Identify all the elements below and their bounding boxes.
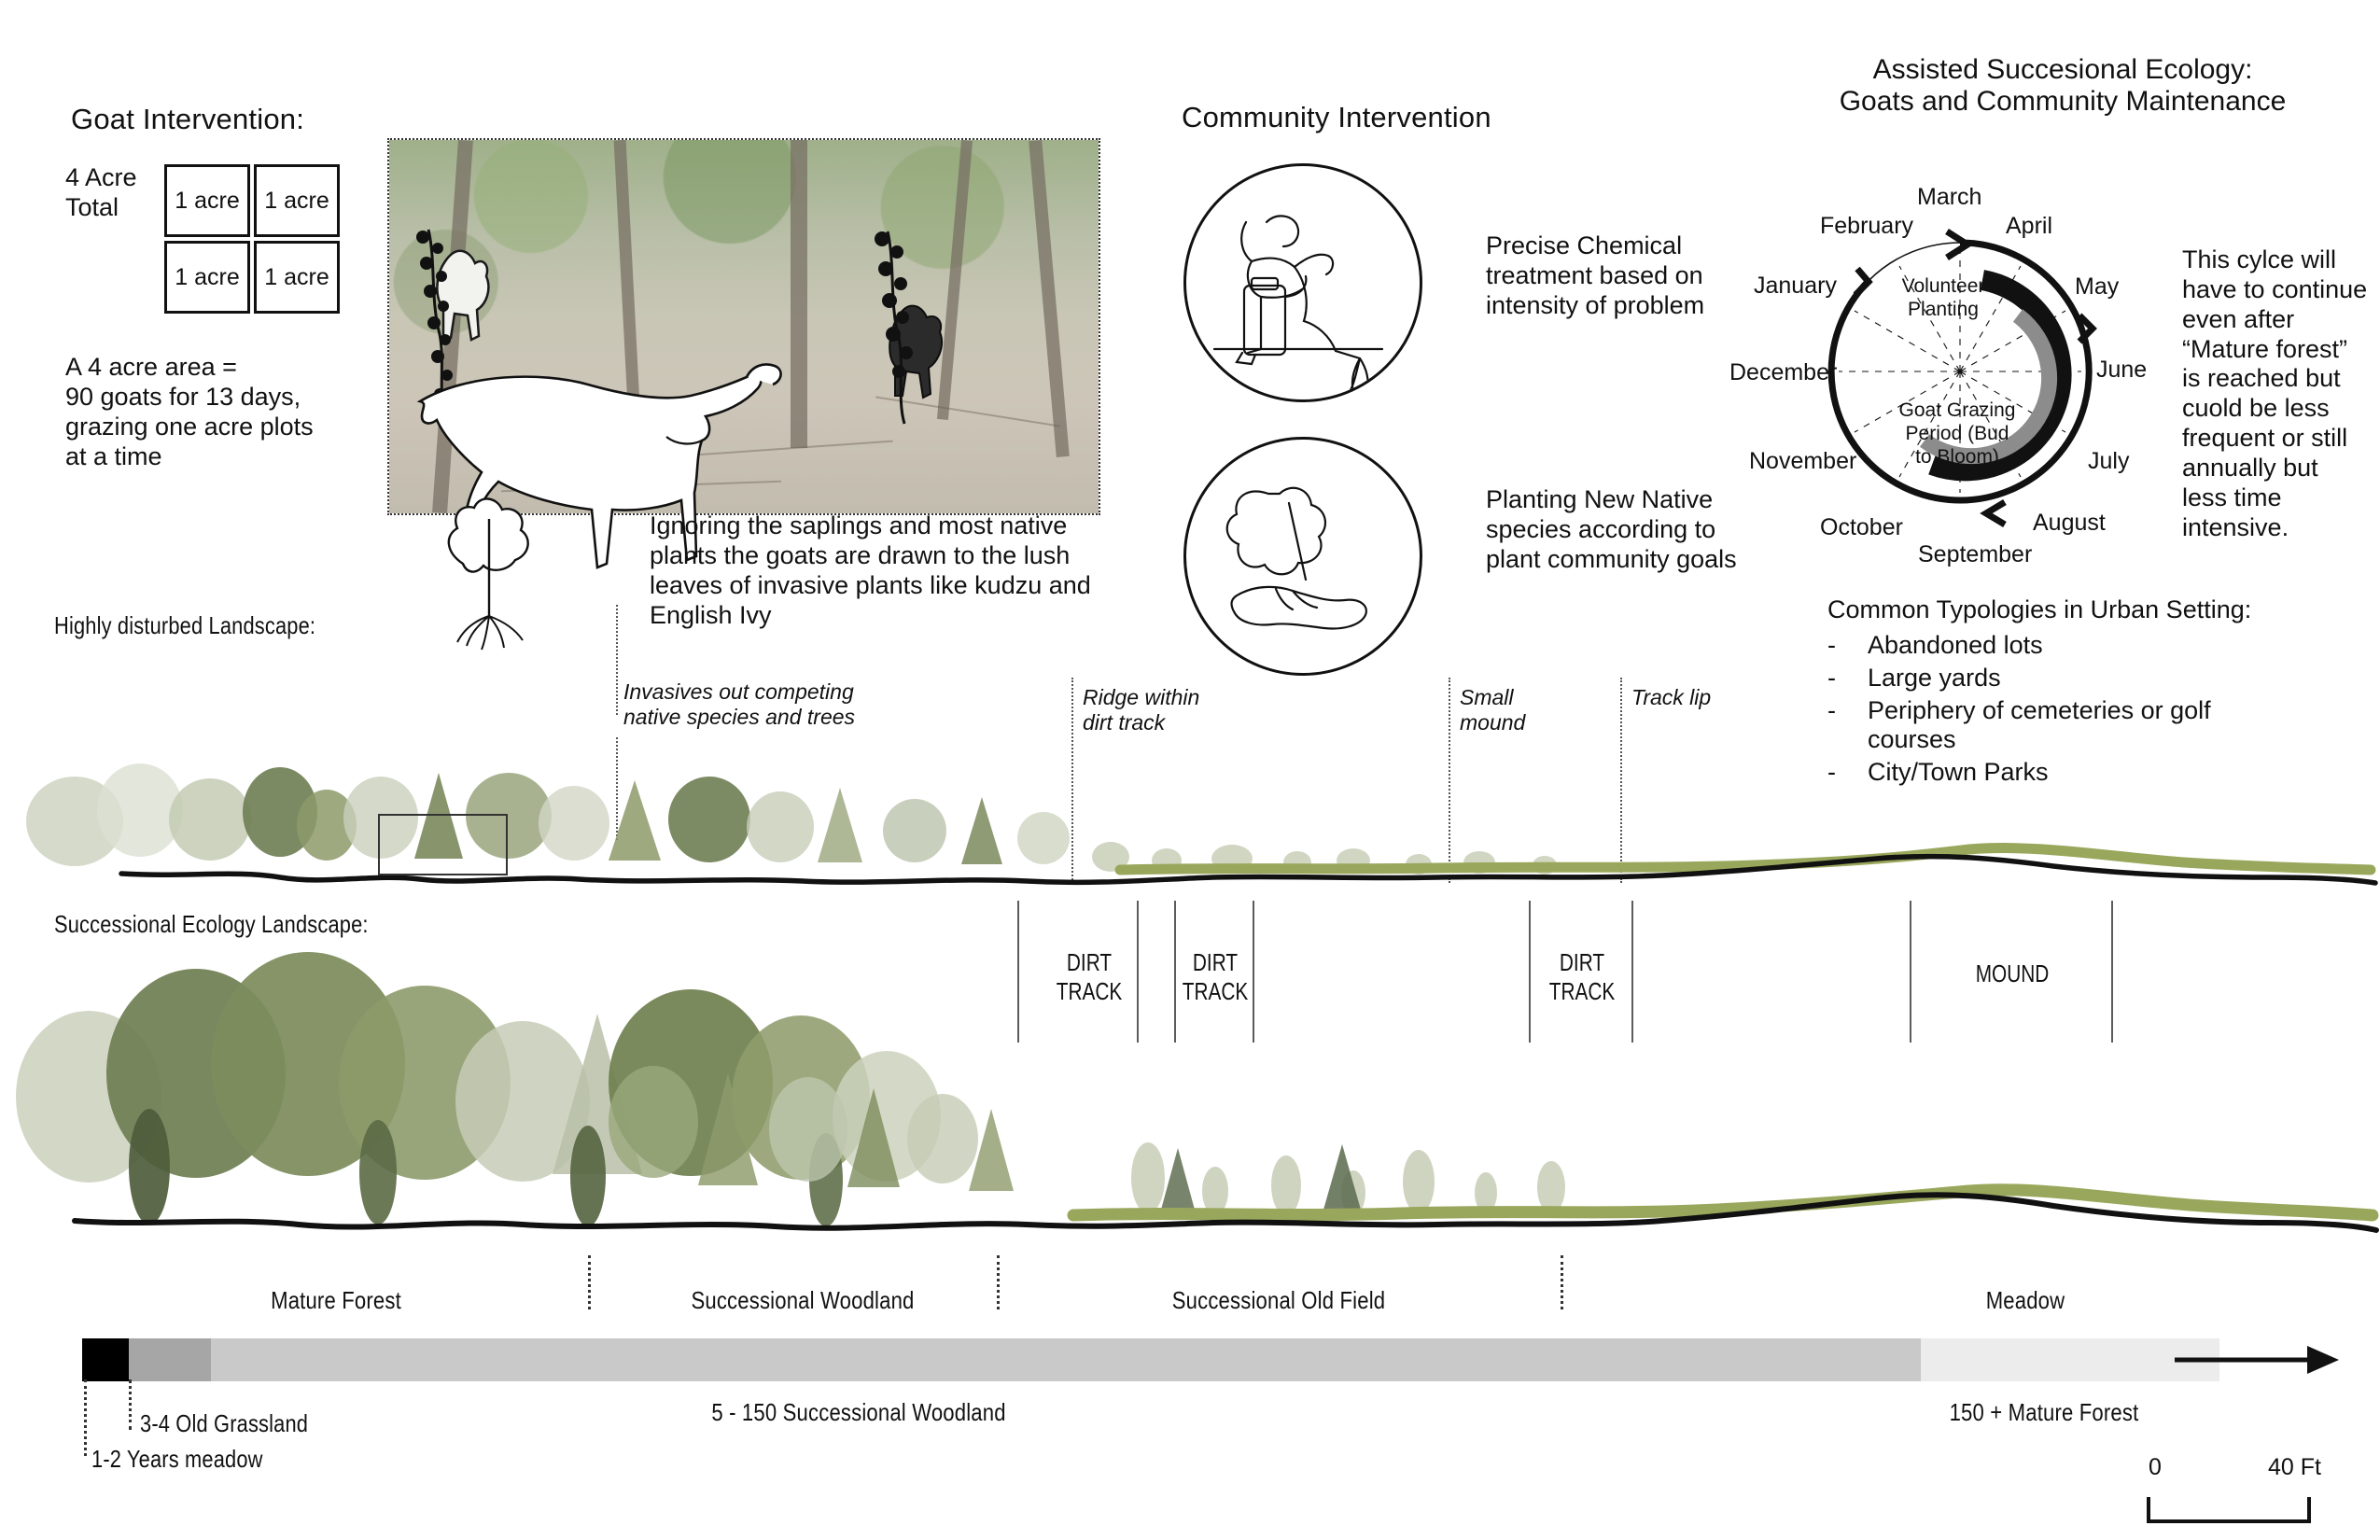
- calendar-arrow-december: [1855, 269, 1869, 295]
- typology-item: Large yards: [1868, 664, 2001, 693]
- calendar-month-april: April: [2006, 213, 2052, 240]
- zone-label-successional-woodland: Successional Woodland: [644, 1286, 961, 1315]
- zone-label-meadow: Meadow: [1867, 1286, 2184, 1315]
- leader-line: [616, 605, 618, 715]
- volunteer-planting-label: Volunteer Planting: [1887, 275, 1999, 322]
- calendar-month-june: June: [2096, 357, 2147, 384]
- successional-woodland-canopy: [609, 1066, 1014, 1191]
- list-bullet: -: [1827, 664, 1836, 693]
- goat-grazing-label: Goat Grazing Period (Bud to Bloom): [1897, 399, 2018, 469]
- timeline-callout-old-grassland: 3-4 Old Grassland: [140, 1409, 308, 1438]
- timeline-segment-old-grassland[interactable]: [129, 1338, 211, 1381]
- calendar-month-october: October: [1820, 514, 1903, 541]
- stocking-rate-note: A 4 acre area = 90 goats for 13 days, gr…: [65, 353, 314, 471]
- detail-crop-box: [378, 814, 508, 875]
- successional-ecology-label: Successional Ecology Landscape:: [54, 910, 369, 939]
- native-oak-seedling: [449, 498, 528, 650]
- calendar-month-september: September: [1918, 541, 2032, 568]
- scale-max-label: 40 Ft: [2268, 1454, 2321, 1481]
- calendar-arrow-september: [1986, 502, 2005, 525]
- section-highly-disturbed: [0, 700, 2380, 887]
- acre-plot-grid: 1 acre 1 acre 1 acre 1 acre: [164, 164, 340, 314]
- zone-label-mature-forest: Mature Forest: [177, 1286, 495, 1315]
- calendar-arrow-march: [1947, 231, 1967, 258]
- timeline-callout-leader: [84, 1379, 87, 1456]
- section-successional-ecology: [0, 952, 2380, 1260]
- calendar-month-may: May: [2075, 273, 2119, 301]
- goat-photo-caption: Ignoring the saplings and most native pl…: [650, 511, 1135, 630]
- timeline-callout-meadow: 1-2 Years meadow: [91, 1445, 263, 1474]
- old-field-conifer-accents: [1161, 1144, 1361, 1210]
- calendar-month-january: January: [1754, 273, 1837, 300]
- zone-divider: [997, 1255, 1000, 1309]
- chemical-treatment-text: Precise Chemical treatment based on inte…: [1486, 231, 1757, 321]
- goat-intervention-heading: Goat Intervention:: [71, 103, 304, 137]
- timeline-segment-meadow[interactable]: [82, 1338, 129, 1381]
- hand-with-seedling-icon: [1183, 437, 1422, 676]
- cycle-continuation-note: This cylce will have to continue even af…: [2182, 245, 2369, 543]
- scale-min-label: 0: [2149, 1454, 2162, 1481]
- typology-item: Abandoned lots: [1868, 631, 2043, 660]
- timeline-segment-successional-woodland[interactable]: [211, 1338, 1921, 1381]
- calendar-month-december: December: [1729, 359, 1837, 386]
- scale-bar: [2143, 1491, 2330, 1529]
- page-title: Assisted Succesional Ecology: Goats and …: [1755, 54, 2371, 118]
- typologies-heading: Common Typologies in Urban Setting:: [1827, 595, 2251, 624]
- spray-applicator-icon: [1183, 163, 1422, 402]
- grass-layer-bottom: [1073, 1190, 2373, 1215]
- acre-plot-4: 1 acre: [254, 241, 340, 314]
- acre-plot-2: 1 acre: [254, 164, 340, 237]
- page-title-line1: Assisted Succesional Ecology:: [1755, 54, 2371, 86]
- acre-plot-1: 1 acre: [164, 164, 250, 237]
- timeline-label-successional-woodland: 5 - 150 Successional Woodland: [573, 1398, 1144, 1427]
- calendar-month-november: November: [1749, 448, 1856, 475]
- calendar-month-march: March: [1917, 184, 1981, 211]
- highly-disturbed-label: Highly disturbed Landscape:: [54, 611, 315, 640]
- planting-native-species-text: Planting New Native species according to…: [1486, 485, 1757, 575]
- calendar-month-august: August: [2033, 510, 2106, 537]
- calendar-month-july: July: [2088, 448, 2129, 475]
- list-bullet: -: [1827, 631, 1836, 660]
- calendar-month-february: February: [1820, 213, 1913, 240]
- timeline-callout-leader: [129, 1379, 132, 1430]
- zone-label-successional-old-field: Successional Old Field: [1113, 1286, 1446, 1315]
- timeline-arrow-icon: [2175, 1338, 2361, 1381]
- zone-divider: [1561, 1255, 1563, 1309]
- four-acre-total-label: 4 Acre Total: [65, 163, 137, 223]
- acre-plot-3: 1 acre: [164, 241, 250, 314]
- community-intervention-heading: Community Intervention: [1182, 101, 1491, 134]
- timeline-label-mature-forest: 150 + Mature Forest: [1854, 1398, 2234, 1427]
- disturbed-canopy: [26, 763, 1070, 866]
- goat-silhouette-climbing: [437, 251, 488, 340]
- page-title-line2: Goats and Community Maintenance: [1755, 86, 2371, 118]
- succession-timeline-bar: [82, 1338, 2219, 1381]
- zone-divider: [588, 1255, 591, 1309]
